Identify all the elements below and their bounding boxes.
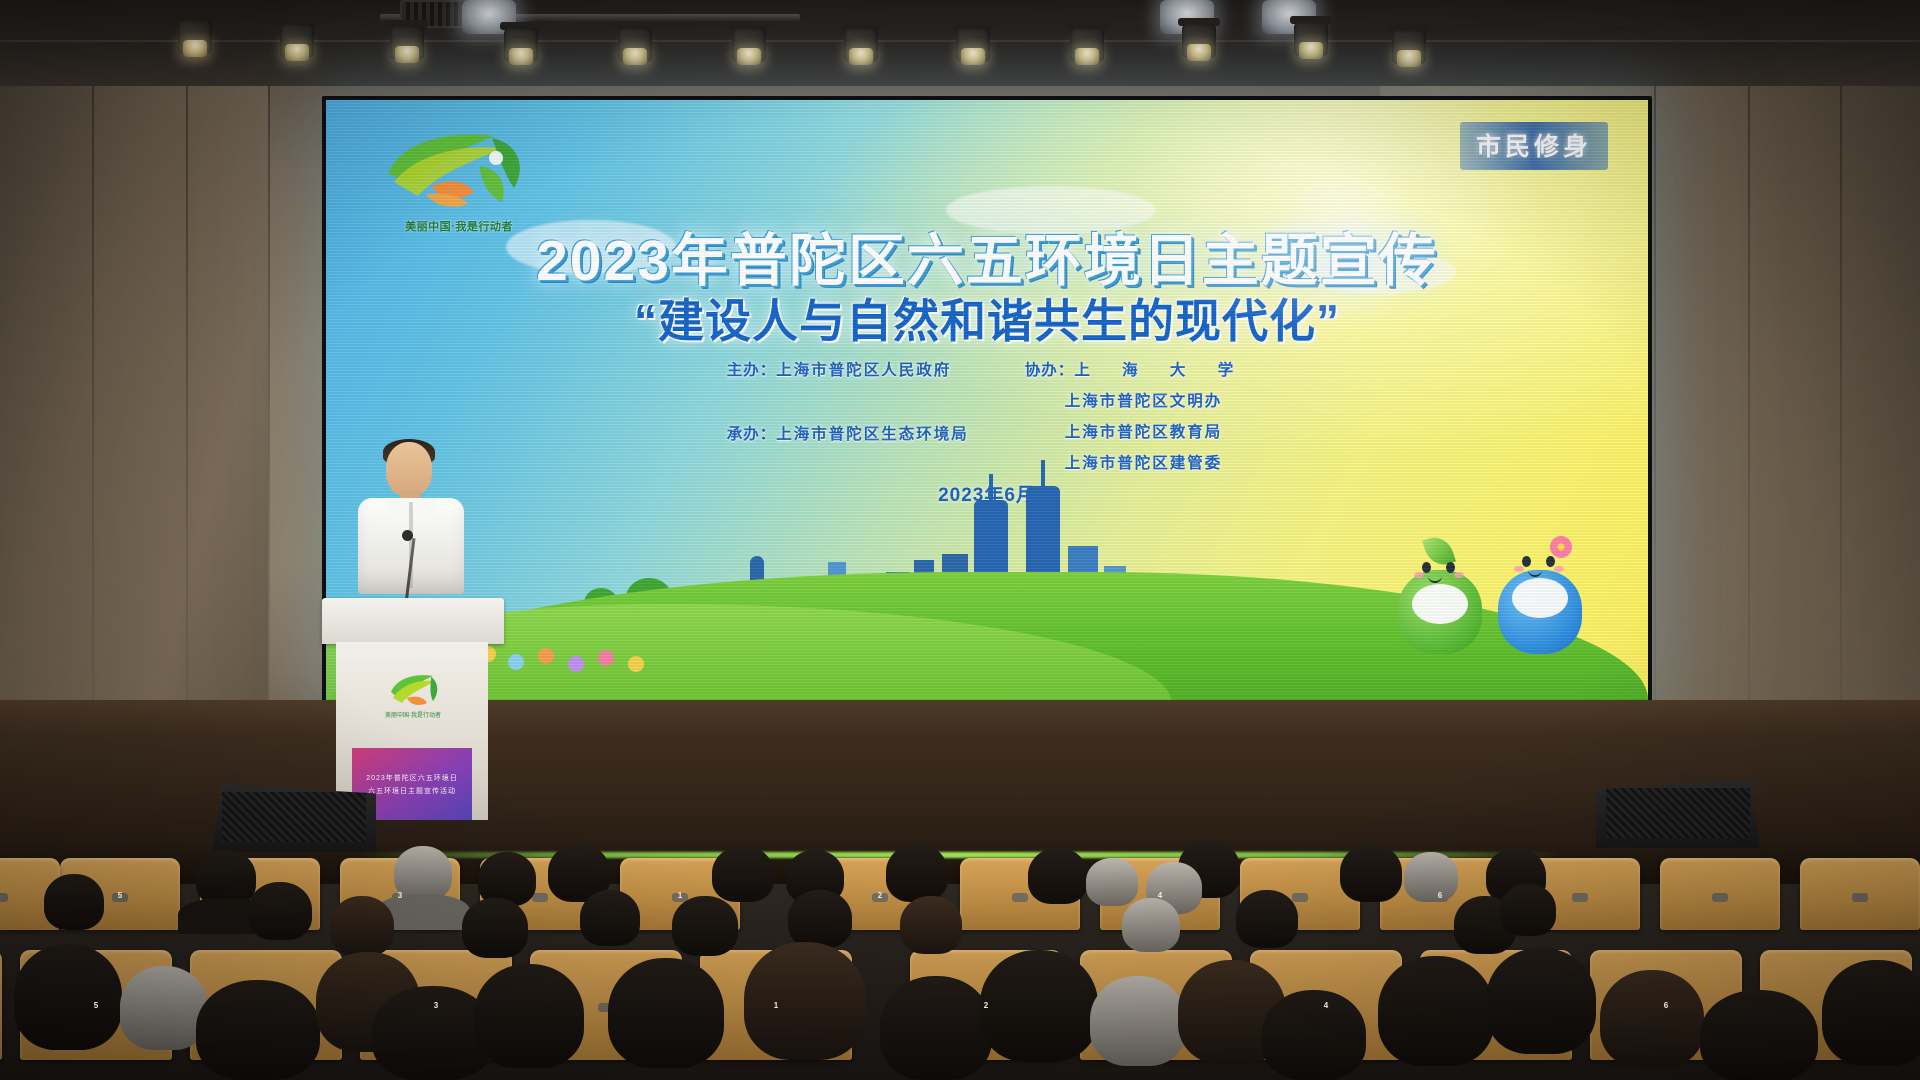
- podium-placard-line-1: 六五环境日主题宣传活动: [368, 786, 456, 796]
- conference-hall-scene: 美丽中国·我是行动者 市民修身 2023年普陀区六五环境日主题宣传 “建设人与自…: [0, 0, 1920, 1080]
- audience-head: [608, 958, 724, 1068]
- audience-head: [1500, 884, 1556, 936]
- stage-spotlight: [1066, 22, 1108, 68]
- audience-head: [788, 890, 852, 948]
- audience-head: [330, 896, 394, 956]
- seat-number: 6: [1438, 891, 1442, 900]
- stage-spotlight: [1290, 16, 1332, 62]
- audience-head: [14, 944, 122, 1050]
- audience-head: [1262, 990, 1366, 1080]
- mascot-blue: [1492, 544, 1592, 654]
- podium-placard-line-0: 2023年普陀区六五环境日: [366, 773, 458, 783]
- podium-logo-caption: 美丽中国·我是行动者: [385, 710, 441, 719]
- audience-head: [712, 846, 774, 902]
- coorganizer-label: 协办：: [1025, 358, 1075, 380]
- coorganizer-0: 上 海 大 学: [1074, 358, 1247, 380]
- audience-head: [1404, 852, 1458, 902]
- audience-area: 5 3 1 2 4 6 5 3 1 2 4 6: [0, 840, 1920, 1080]
- coorganizer-row-0: 协办： 上 海 大 学: [1025, 358, 1247, 380]
- led-screen-content: 美丽中国·我是行动者 市民修身 2023年普陀区六五环境日主题宣传 “建设人与自…: [326, 100, 1648, 714]
- seat-number: 4: [1324, 1001, 1328, 1010]
- seat-number: 3: [434, 1001, 438, 1010]
- seat-number: 6: [1664, 1001, 1668, 1010]
- seat[interactable]: [1660, 858, 1780, 930]
- seat-number: 1: [678, 891, 682, 900]
- coorganizer-1: 上海市普陀区文明办: [1065, 389, 1223, 411]
- podium-logo-icon: [387, 670, 439, 710]
- seat-number: 5: [94, 1001, 98, 1010]
- host-row: 主办： 上海市普陀区人民政府: [727, 358, 969, 380]
- seat[interactable]: [1800, 858, 1920, 930]
- stage-spotlight: [1178, 18, 1220, 64]
- seat-number: 4: [1158, 891, 1162, 900]
- audience-head: [474, 964, 584, 1068]
- stage-spotlight: [500, 22, 542, 68]
- audience-head: [1122, 898, 1180, 952]
- podium: 美丽中国·我是行动者 2023年普陀区六五环境日 六五环境日主题宣传活动: [322, 598, 504, 820]
- stage-spotlight: [174, 14, 216, 60]
- seat-number: 2: [984, 1001, 988, 1010]
- audience-head: [744, 942, 866, 1060]
- audience-head: [580, 890, 640, 946]
- stage-spotlight: [614, 22, 656, 68]
- led-screen: 美丽中国·我是行动者 市民修身 2023年普陀区六五环境日主题宣传 “建设人与自…: [322, 96, 1652, 718]
- audience-head: [462, 898, 528, 958]
- podium-top-surface: [322, 598, 504, 644]
- stage-monitor-speaker-right: [1596, 780, 1760, 848]
- microphone-icon: [402, 530, 413, 541]
- seat-number: 1: [774, 1001, 778, 1010]
- stage-spotlight: [952, 22, 994, 68]
- host-label: 主办：: [727, 358, 777, 380]
- audience-head: [980, 950, 1098, 1062]
- stage-spotlight: [1388, 24, 1430, 70]
- audience-head: [1028, 848, 1088, 904]
- speaker-person: [352, 442, 472, 612]
- stage-spotlight: [386, 20, 428, 66]
- audience-head: [1086, 858, 1138, 906]
- stage-spotlight: [840, 22, 882, 68]
- audience-head: [120, 966, 208, 1050]
- seat-number: 2: [878, 891, 882, 900]
- audience-head: [1600, 970, 1704, 1068]
- audience-head: [196, 980, 320, 1080]
- audience-head: [900, 896, 962, 954]
- seat-number: 3: [398, 891, 402, 900]
- audience-head: [1090, 976, 1186, 1066]
- speaker-head: [386, 442, 432, 496]
- audience-head: [1486, 948, 1596, 1054]
- audience-head: [44, 874, 104, 930]
- seat[interactable]: [0, 950, 2, 1060]
- stage-spotlight: [276, 18, 318, 64]
- audience-head: [1236, 890, 1298, 948]
- screen-highlight: [1119, 100, 1539, 339]
- coorganizer-row-1: 上海市普陀区文明办: [1025, 389, 1247, 411]
- mascot-green: [1392, 550, 1488, 654]
- host-value: 上海市普陀区人民政府: [776, 358, 951, 380]
- audience-head: [1822, 960, 1920, 1066]
- audience-head: [1340, 844, 1402, 902]
- seat-number: 5: [118, 891, 122, 900]
- stage-spotlight: [728, 22, 770, 68]
- audience-head: [1378, 956, 1494, 1066]
- audience-head: [248, 882, 312, 940]
- audience-head: [394, 846, 452, 900]
- audience-head: [886, 844, 948, 902]
- audience-head: [1700, 990, 1818, 1080]
- audience-head: [672, 896, 738, 956]
- audience-head: [880, 976, 992, 1080]
